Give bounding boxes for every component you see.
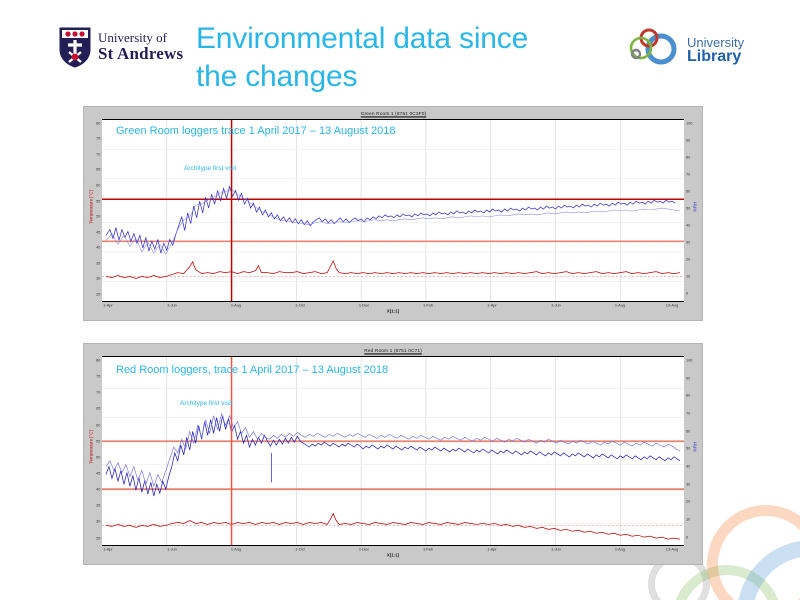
y-tick-right: 60 bbox=[686, 188, 690, 193]
y-tick-left: 60 bbox=[96, 183, 100, 188]
y-tick-left: 40 bbox=[96, 245, 100, 250]
x-axis-label-red: X(1:1) bbox=[29, 553, 757, 558]
deco-circle-green-icon bbox=[672, 565, 782, 600]
x-tick: 1-Jun bbox=[167, 303, 177, 308]
plot-svg-green bbox=[102, 120, 684, 301]
y-tick-left: 50 bbox=[96, 214, 100, 219]
y-tick-left: 25 bbox=[96, 291, 100, 296]
y-tick-right: 30 bbox=[686, 481, 690, 486]
x-tick: 1-Aug bbox=[231, 547, 241, 552]
x-tick: 1-Oct bbox=[295, 547, 304, 552]
y-tick-left: 75 bbox=[96, 136, 100, 141]
y-tick-right: 80 bbox=[686, 393, 690, 398]
x-tick: 13-Aug bbox=[666, 303, 678, 308]
library-wordmark: University Library bbox=[687, 36, 744, 66]
y-axis-right-green: 100 90 80 70 60 50 40 30 20 10 0 %RH bbox=[684, 119, 702, 302]
y-tick-left: 50 bbox=[96, 454, 100, 459]
y-tick-left: 45 bbox=[96, 470, 100, 475]
y-tick-right: 0 bbox=[686, 534, 688, 539]
x-tick: 1-Aug bbox=[231, 303, 241, 308]
y-tick-left: 75 bbox=[96, 374, 100, 379]
x-tick: 1-Jun bbox=[167, 547, 177, 552]
y-tick-right: 100 bbox=[686, 120, 692, 125]
x-axis-label-green: X(1:1) bbox=[29, 309, 757, 314]
y-tick-left: 35 bbox=[96, 503, 100, 508]
y-tick-right: 10 bbox=[686, 516, 690, 521]
university-library-logo: University Library bbox=[628, 28, 744, 73]
y-tick-left: 30 bbox=[96, 276, 100, 281]
plot-area-green[interactable] bbox=[102, 119, 684, 302]
plot-outer-green: 80 75 70 65 60 55 50 45 40 35 30 25 Temp… bbox=[84, 119, 702, 320]
slide-canvas: University of St Andrews Environmental d… bbox=[0, 0, 800, 600]
y-tick-right: 50 bbox=[686, 205, 690, 210]
chart-caption-bar-red: Red Room 1 (8751 0C71) bbox=[84, 344, 702, 356]
page-title-line1: Environmental data since bbox=[196, 20, 596, 58]
chart-panel-red-room[interactable]: Red Room 1 (8751 0C71) 80 75 70 65 60 55… bbox=[83, 343, 703, 565]
deco-circle-blue-icon bbox=[737, 540, 800, 600]
university-wordmark-line2: St Andrews bbox=[98, 45, 183, 63]
university-wordmark-line1: University of bbox=[98, 31, 183, 45]
y-tick-right: 90 bbox=[686, 375, 690, 380]
page-title-line2: the changes bbox=[196, 58, 596, 96]
library-rings-icon bbox=[628, 28, 680, 73]
y-tick-left: 45 bbox=[96, 229, 100, 234]
plot-area-red[interactable] bbox=[102, 356, 684, 546]
y-axis-left-red: 80 75 70 65 60 55 50 45 40 35 30 25 Temp… bbox=[84, 356, 102, 546]
chart-panel-green-room[interactable]: Green Room 1 (8751 0C3F0) 80 75 70 65 60… bbox=[83, 106, 703, 321]
library-wordmark-line2: Library bbox=[687, 49, 744, 65]
university-crest-icon bbox=[58, 26, 92, 68]
x-tick: 1-Dec bbox=[359, 303, 369, 308]
page-title: Environmental data since the changes bbox=[196, 20, 596, 97]
y-tick-right: 10 bbox=[686, 274, 690, 279]
x-axis-green: 1-Apr 1-Jun 1-Aug 1-Oct 1-Dec 1-Feb 1-Ap… bbox=[102, 302, 684, 320]
university-wordmark: University of St Andrews bbox=[98, 31, 183, 62]
y-tick-left: 70 bbox=[96, 390, 100, 395]
x-tick: 1-Apr bbox=[103, 303, 112, 308]
x-tick: 1-Jun bbox=[551, 547, 561, 552]
x-tick: 1-Feb bbox=[423, 547, 433, 552]
y-tick-right: 70 bbox=[686, 171, 690, 176]
y-tick-left: 80 bbox=[96, 120, 100, 125]
x-tick: 1-Apr bbox=[103, 547, 112, 552]
y-tick-left: 80 bbox=[96, 357, 100, 362]
x-tick: 1-Jun bbox=[551, 303, 561, 308]
y-tick-left: 70 bbox=[96, 151, 100, 156]
y-tick-right: 40 bbox=[686, 463, 690, 468]
chart-caption-bar-green: Green Room 1 (8751 0C3F0) bbox=[84, 107, 702, 119]
x-tick: 1-Aug bbox=[615, 303, 625, 308]
x-tick: 13-Aug bbox=[666, 547, 678, 552]
y-tick-left: 65 bbox=[96, 167, 100, 172]
x-tick: 1-Oct bbox=[295, 303, 304, 308]
y-tick-right: 20 bbox=[686, 256, 690, 261]
y-tick-left: 25 bbox=[96, 535, 100, 540]
plot-svg-red bbox=[102, 357, 684, 545]
y-axis-label-left-red: Temperature [°C] bbox=[88, 421, 93, 473]
y-tick-right: 100 bbox=[686, 357, 692, 362]
x-tick: 1-Aug bbox=[615, 547, 625, 552]
slide-header: University of St Andrews Environmental d… bbox=[0, 0, 800, 105]
y-tick-right: 20 bbox=[686, 499, 690, 504]
y-tick-right: 40 bbox=[686, 222, 690, 227]
y-tick-right: 50 bbox=[686, 446, 690, 451]
y-tick-left: 55 bbox=[96, 438, 100, 443]
library-wordmark-line1: University bbox=[687, 36, 744, 49]
chart-window-caption-green: Green Room 1 (8751 0C3F0) bbox=[360, 110, 426, 116]
chart-window-caption-red: Red Room 1 (8751 0C71) bbox=[364, 347, 422, 353]
x-tick: 1-Apr bbox=[487, 547, 496, 552]
y-axis-right-red: 100 90 80 70 60 50 40 30 20 10 0 %RH bbox=[684, 356, 702, 546]
y-axis-left-green: 80 75 70 65 60 55 50 45 40 35 30 25 Temp… bbox=[84, 119, 102, 302]
y-tick-right: 30 bbox=[686, 239, 690, 244]
y-tick-left: 55 bbox=[96, 198, 100, 203]
x-axis-red: 1-Apr 1-Jun 1-Aug 1-Oct 1-Dec 1-Feb 1-Ap… bbox=[102, 546, 684, 564]
university-of-st-andrews-logo: University of St Andrews bbox=[58, 26, 183, 68]
y-tick-right: 70 bbox=[686, 410, 690, 415]
y-tick-left: 60 bbox=[96, 422, 100, 427]
plot-outer-red: 80 75 70 65 60 55 50 45 40 35 30 25 Temp… bbox=[84, 356, 702, 564]
x-tick: 1-Dec bbox=[359, 547, 369, 552]
y-tick-right: 90 bbox=[686, 137, 690, 142]
y-axis-label-left-green: Temperature [°C] bbox=[88, 181, 93, 233]
y-axis-label-right-green: %RH bbox=[692, 181, 697, 233]
y-tick-left: 35 bbox=[96, 260, 100, 265]
y-tick-right: 0 bbox=[686, 291, 688, 296]
y-tick-right: 80 bbox=[686, 154, 690, 159]
y-tick-left: 30 bbox=[96, 519, 100, 524]
y-axis-label-right-red: %RH bbox=[692, 421, 697, 473]
x-tick: 1-Feb bbox=[423, 303, 433, 308]
y-tick-left: 40 bbox=[96, 487, 100, 492]
y-tick-left: 65 bbox=[96, 406, 100, 411]
y-tick-right: 60 bbox=[686, 428, 690, 433]
x-tick: 1-Apr bbox=[487, 303, 496, 308]
